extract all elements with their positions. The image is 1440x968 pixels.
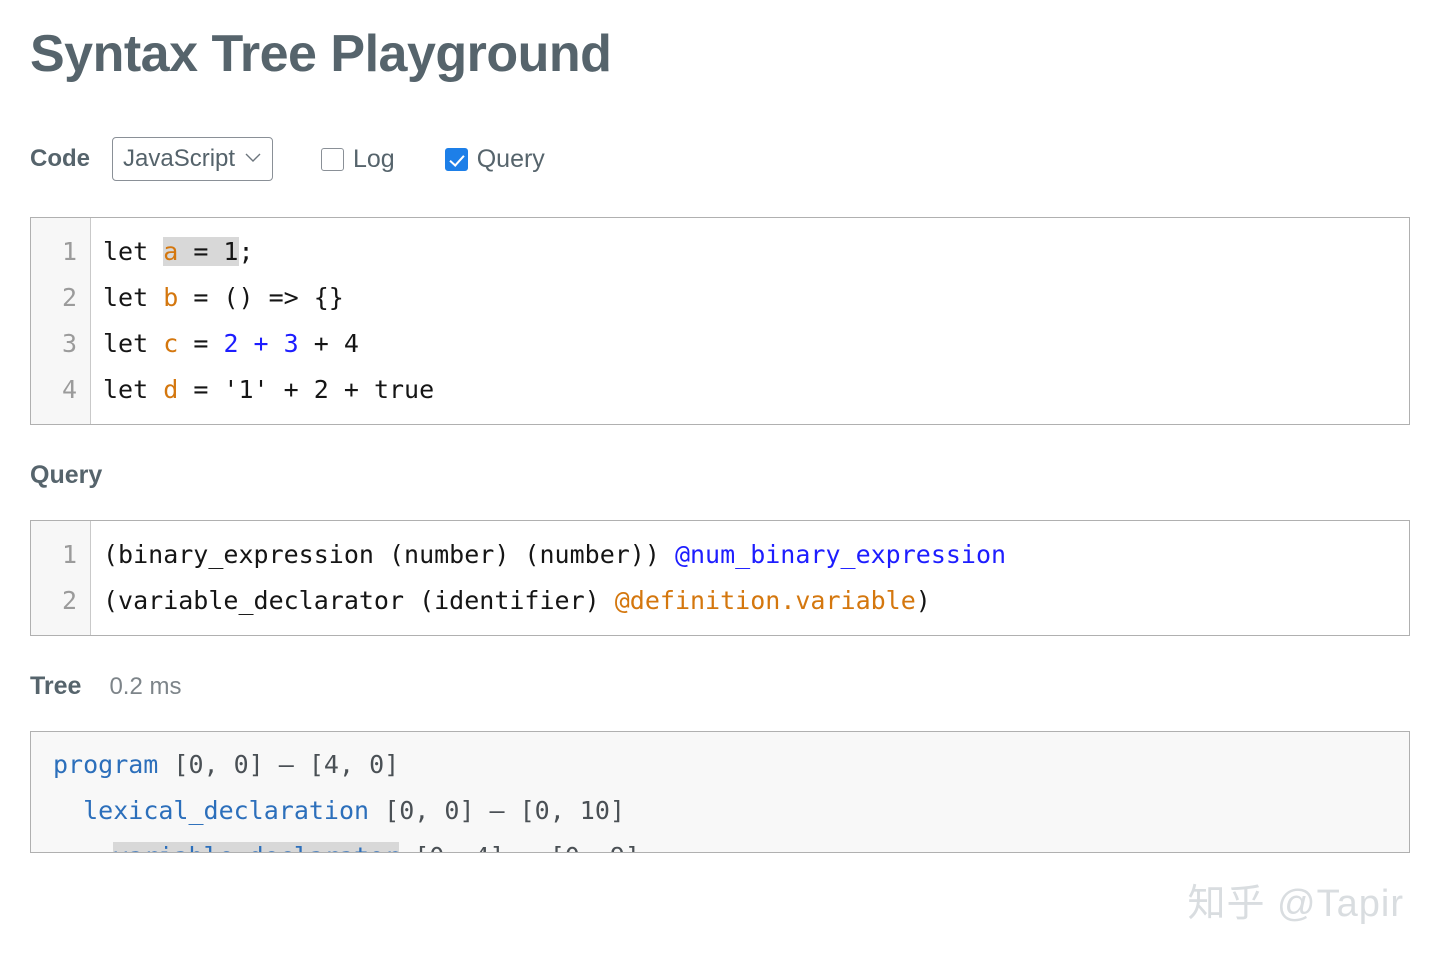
tree-row[interactable]: variable_declarator [0, 4] – [0, 9]: [53, 834, 1409, 853]
code-line[interactable]: let c = 2 + 3 + 4: [103, 321, 1409, 367]
code-editor[interactable]: 1234 let a = 1;let b = () => {}let c = 2…: [30, 217, 1410, 425]
code-token: =: [178, 329, 223, 358]
tree-node-position: [0, 4] – [0, 9]: [399, 842, 640, 853]
code-token: let: [103, 283, 163, 312]
tree-row[interactable]: program [0, 0] – [4, 0]: [53, 742, 1409, 788]
query-heading: Query: [30, 461, 102, 490]
tree-timing: 0.2 ms: [109, 673, 181, 701]
tree-section-header: Tree 0.2 ms: [30, 672, 1410, 701]
query-token: (binary_expression (number) (number)): [103, 540, 675, 569]
tree-node-position: [0, 0] – [0, 10]: [369, 796, 625, 825]
code-line[interactable]: let b = () => {}: [103, 275, 1409, 321]
tree-node-position: [0, 0] – [4, 0]: [158, 750, 399, 779]
code-line-number: 2: [31, 275, 90, 321]
code-token: = 1: [178, 237, 238, 266]
query-token: @definition.variable: [615, 586, 916, 615]
code-token: let: [103, 329, 163, 358]
query-line[interactable]: (binary_expression (number) (number)) @n…: [103, 532, 1409, 578]
language-select-wrap[interactable]: JavaScript: [112, 137, 273, 181]
code-line-numbers: 1234: [31, 218, 91, 424]
checkbox-label: Log: [353, 147, 395, 172]
code-token: let: [103, 237, 163, 266]
tree-heading: Tree: [30, 672, 81, 701]
controls-row: Code JavaScript LogQuery: [30, 137, 1410, 181]
checkbox-label: Query: [477, 147, 545, 172]
code-token: let: [103, 375, 163, 404]
code-token: + 4: [299, 329, 359, 358]
checkbox-query[interactable]: Query: [445, 147, 545, 172]
query-editor[interactable]: 12 (binary_expression (number) (number))…: [30, 520, 1410, 636]
code-token: ;: [239, 237, 254, 266]
page-title: Syntax Tree Playground: [30, 0, 1410, 85]
query-token: (variable_declarator (identifier): [103, 586, 615, 615]
query-line-number: 2: [31, 578, 90, 624]
query-line-numbers: 12: [31, 521, 91, 635]
code-line-number: 3: [31, 321, 90, 367]
code-label: Code: [30, 145, 90, 173]
tree-node-name[interactable]: program: [53, 750, 158, 779]
code-line-number: 1: [31, 229, 90, 275]
code-token: 2 + 3: [223, 329, 298, 358]
tree-indent: [53, 796, 83, 825]
tree-node-name[interactable]: variable_declarator: [113, 842, 399, 853]
code-line[interactable]: let a = 1;: [103, 229, 1409, 275]
query-token: @num_binary_expression: [675, 540, 1006, 569]
code-text-area[interactable]: let a = 1;let b = () => {}let c = 2 + 3 …: [91, 218, 1409, 424]
query-line[interactable]: (variable_declarator (identifier) @defin…: [103, 578, 1409, 624]
watermark: 知乎 @Tapir: [1188, 872, 1405, 927]
code-token: d: [163, 375, 178, 404]
tree-row[interactable]: lexical_declaration [0, 0] – [0, 10]: [53, 788, 1409, 834]
checkbox-checked-icon[interactable]: [445, 148, 468, 171]
code-token: b: [163, 283, 178, 312]
tree-indent: [53, 842, 113, 853]
language-select[interactable]: JavaScript: [112, 137, 273, 181]
playground-page: Syntax Tree Playground Code JavaScript L…: [0, 0, 1440, 968]
checkbox-group: LogQuery: [321, 147, 545, 172]
tree-node-name[interactable]: lexical_declaration: [83, 796, 369, 825]
query-line-number: 1: [31, 532, 90, 578]
code-token: a: [163, 237, 178, 266]
query-section-header: Query: [30, 461, 1410, 490]
query-text-area[interactable]: (binary_expression (number) (number)) @n…: [91, 521, 1409, 635]
code-token: c: [163, 329, 178, 358]
code-line[interactable]: let d = '1' + 2 + true: [103, 367, 1409, 413]
code-token: = '1' + 2 + true: [178, 375, 434, 404]
syntax-tree-panel[interactable]: program [0, 0] – [4, 0] lexical_declarat…: [30, 731, 1410, 853]
code-line-number: 4: [31, 367, 90, 413]
checkbox-log[interactable]: Log: [321, 147, 395, 172]
checkbox-empty-icon[interactable]: [321, 148, 344, 171]
query-token: ): [916, 586, 931, 615]
code-token: = () => {}: [178, 283, 344, 312]
